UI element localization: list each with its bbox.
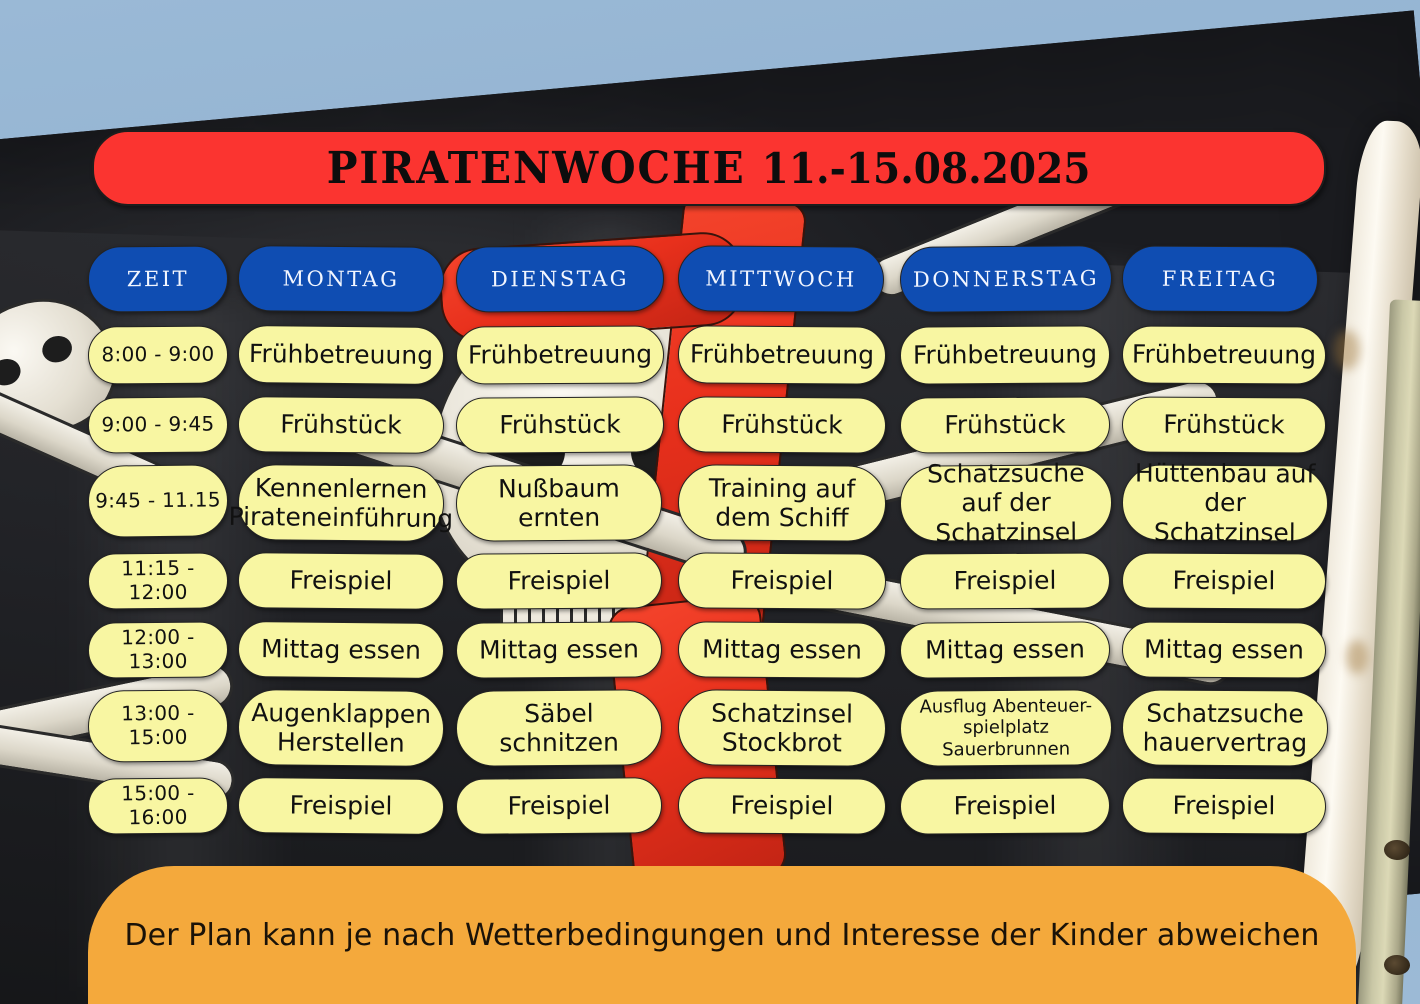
activity-label: Freispiel xyxy=(289,791,392,822)
column-header-label: MONTAG xyxy=(282,266,399,292)
activity-label: Mittag essen xyxy=(479,635,639,666)
activity-label: Frühbetreuung xyxy=(913,340,1097,371)
footer-note-banner: Der Plan kann je nach Wetterbedingungen … xyxy=(88,866,1356,1004)
time-cell[interactable]: 12:00 - 13:00 xyxy=(88,621,228,678)
activity-label: Freispiel xyxy=(1173,791,1276,821)
column-header-freitag[interactable]: FREITAG xyxy=(1122,245,1318,312)
activity-label: Freispiel xyxy=(730,791,833,821)
table-row: 8:00 - 9:00 Frühbetreuung Frühbetreuung … xyxy=(88,326,1336,384)
activity-cell[interactable]: Mittag essen xyxy=(678,621,886,678)
time-label: 9:45 - 11.15 xyxy=(95,489,221,514)
skull-eye-icon xyxy=(0,355,24,389)
activity-cell[interactable]: Frühstück xyxy=(1122,396,1326,453)
time-label: 12:00 - 13:00 xyxy=(89,626,227,674)
activity-cell[interactable]: Freispiel xyxy=(1122,777,1326,834)
footer-note-text: Der Plan kann je nach Wetterbedingungen … xyxy=(124,918,1319,953)
activity-cell[interactable]: Freispiel xyxy=(456,552,662,609)
column-header-donnerstag[interactable]: DONNERSTAG xyxy=(900,245,1113,313)
activity-cell[interactable]: Frühbetreuung xyxy=(1122,325,1326,384)
activity-label: Freispiel xyxy=(1173,566,1276,596)
activity-label: Augenklappen Herstellen xyxy=(249,698,434,759)
activity-label: Frühstück xyxy=(499,410,621,440)
table-row: 15:00 - 16:00 Freispiel Freispiel Freisp… xyxy=(88,778,1336,834)
activity-label: Frühbetreuung xyxy=(468,340,652,370)
activity-label: Ausflug Abenteuer- spielplatz Sauerbrunn… xyxy=(907,695,1105,760)
time-label: 13:00 - 15:00 xyxy=(89,702,227,750)
activity-label: Säbel schnitzen xyxy=(499,698,619,758)
activity-cell[interactable]: Frühbetreuung xyxy=(456,325,664,384)
column-header-label: DIENSTAG xyxy=(491,266,629,291)
activity-cell[interactable]: Säbel schnitzen xyxy=(456,689,663,766)
activity-cell[interactable]: Frühstück xyxy=(238,396,444,454)
schedule-table: ZEIT MONTAG DIENSTAG MITTWOCH DO xyxy=(88,246,1336,834)
time-label: 8:00 - 9:00 xyxy=(101,343,214,367)
poster-date-range: 11.-15.08.2025 xyxy=(762,144,1091,193)
column-header-label: FREITAG xyxy=(1162,266,1278,291)
activity-cell[interactable]: Mittag essen xyxy=(1122,621,1326,678)
table-row: 9:45 - 11.15 Kennenlernen Pirateneinführ… xyxy=(88,465,1336,541)
activity-label: Frühbetreuung xyxy=(249,339,433,370)
activity-label: Freispiel xyxy=(953,791,1056,821)
activity-cell[interactable]: Freispiel xyxy=(238,552,444,610)
column-header-zeit[interactable]: ZEIT xyxy=(88,246,228,313)
column-header-label: ZEIT xyxy=(127,266,189,291)
activity-label: Mittag essen xyxy=(702,635,862,666)
activity-label: Freispiel xyxy=(507,791,610,821)
activity-label: Schatzinsel Stockbrot xyxy=(709,698,855,758)
activity-cell[interactable]: Schatzsuche auf der Schatzinsel xyxy=(900,464,1113,541)
time-label: 15:00 - 16:00 xyxy=(89,782,227,830)
activity-cell[interactable]: Mittag essen xyxy=(900,621,1110,678)
column-header-montag[interactable]: MONTAG xyxy=(238,245,445,313)
column-header-mittwoch[interactable]: MITTWOCH xyxy=(678,245,884,312)
activity-cell[interactable]: Freispiel xyxy=(678,777,886,834)
activity-cell[interactable]: Freispiel xyxy=(900,552,1110,609)
time-label: 9:00 - 9:45 xyxy=(101,413,214,438)
activity-label: Mittag essen xyxy=(261,634,421,665)
table-row: 11:15 - 12:00 Freispiel Freispiel Freisp… xyxy=(88,553,1336,609)
table-row: 13:00 - 15:00 Augenklappen Herstellen Sä… xyxy=(88,690,1336,766)
column-header-dienstag[interactable]: DIENSTAG xyxy=(456,245,664,312)
activity-cell[interactable]: Hüttenbau auf der Schatzinsel xyxy=(1122,464,1328,541)
column-header-label: DONNERSTAG xyxy=(913,266,1099,292)
activity-label: Freispiel xyxy=(954,566,1057,596)
activity-cell[interactable]: Ausflug Abenteuer- spielplatz Sauerbrunn… xyxy=(900,689,1113,766)
activity-label: Freispiel xyxy=(730,566,833,596)
activity-cell[interactable]: Freispiel xyxy=(238,777,445,835)
activity-cell[interactable]: Freispiel xyxy=(900,777,1110,834)
time-cell[interactable]: 9:00 - 9:45 xyxy=(88,396,228,453)
title-banner: PIRATENWOCHE 11.-15.08.2025 xyxy=(92,130,1326,206)
activity-label: Nußbaum ernten xyxy=(487,473,631,533)
activity-cell[interactable]: Kennenlernen Pirateneinführung xyxy=(238,464,445,542)
activity-cell[interactable]: Frühbetreuung xyxy=(900,325,1110,384)
activity-cell[interactable]: Freispiel xyxy=(1122,552,1326,609)
activity-label: Schatzsuche auf der Schatzinsel xyxy=(909,458,1104,548)
activity-cell[interactable]: Frühstück xyxy=(678,396,886,453)
table-header-row: ZEIT MONTAG DIENSTAG MITTWOCH DO xyxy=(88,246,1336,312)
time-cell[interactable]: 8:00 - 9:00 xyxy=(88,326,228,385)
activity-cell[interactable]: Frühbetreuung xyxy=(238,325,445,385)
activity-label: Mittag essen xyxy=(925,635,1085,666)
activity-cell[interactable]: Frühbetreuung xyxy=(678,325,886,384)
activity-cell[interactable]: Freispiel xyxy=(678,552,886,609)
hem-stain xyxy=(1334,330,1360,370)
column-header-label: MITTWOCH xyxy=(705,266,857,292)
activity-cell[interactable]: Freispiel xyxy=(456,777,662,835)
time-cell[interactable]: 9:45 - 11.15 xyxy=(88,464,229,537)
activity-label: Training auf dem Schiff xyxy=(699,473,865,533)
time-label: 11:15 - 12:00 xyxy=(89,557,227,605)
activity-label: Mittag essen xyxy=(1144,635,1304,665)
activity-cell[interactable]: Mittag essen xyxy=(456,621,662,678)
skull-eye-icon xyxy=(39,332,76,366)
hem-stain xyxy=(1346,640,1368,674)
activity-cell[interactable]: Augenklappen Herstellen xyxy=(238,689,445,767)
activity-label: Schatzsuche hauervertrag xyxy=(1137,698,1313,758)
activity-cell[interactable]: Nußbaum ernten xyxy=(456,464,663,541)
banner-text: PIRATENWOCHE 11.-15.08.2025 xyxy=(327,143,1091,194)
activity-label: Frühbetreuung xyxy=(1132,340,1316,370)
activity-label: Frühbetreuung xyxy=(690,340,874,371)
activity-label: Freispiel xyxy=(289,566,392,596)
activity-cell[interactable]: Training auf dem Schiff xyxy=(678,464,887,541)
activity-cell[interactable]: Frühstück xyxy=(456,396,664,453)
time-cell[interactable]: 11:15 - 12:00 xyxy=(88,552,228,609)
activity-cell[interactable]: Frühstück xyxy=(900,396,1110,453)
activity-label: Frühstück xyxy=(280,410,402,441)
activity-cell[interactable]: Mittag essen xyxy=(238,621,445,679)
poster-title: PIRATENWOCHE xyxy=(327,143,746,194)
time-cell[interactable]: 13:00 - 15:00 xyxy=(88,689,229,762)
poster-canvas: PIRATENWOCHE 11.-15.08.2025 ZEIT MONTAG … xyxy=(0,0,1420,1004)
table-row: 9:00 - 9:45 Frühstück Frühstück Frühstüc… xyxy=(88,397,1336,453)
activity-label: Frühstück xyxy=(944,410,1066,440)
activity-label: Frühstück xyxy=(721,410,843,440)
activity-label: Frühstück xyxy=(1163,410,1285,440)
time-cell[interactable]: 15:00 - 16:00 xyxy=(88,777,228,834)
activity-cell[interactable]: Schatzsuche hauervertrag xyxy=(1122,689,1328,766)
activity-label: Hüttenbau auf der Schatzinsel xyxy=(1131,458,1319,547)
activity-label: Freispiel xyxy=(507,566,610,596)
table-row: 12:00 - 13:00 Mittag essen Mittag essen … xyxy=(88,622,1336,678)
activity-label: Kennenlernen Pirateneinführung xyxy=(228,472,453,533)
activity-cell[interactable]: Schatzinsel Stockbrot xyxy=(678,689,887,766)
